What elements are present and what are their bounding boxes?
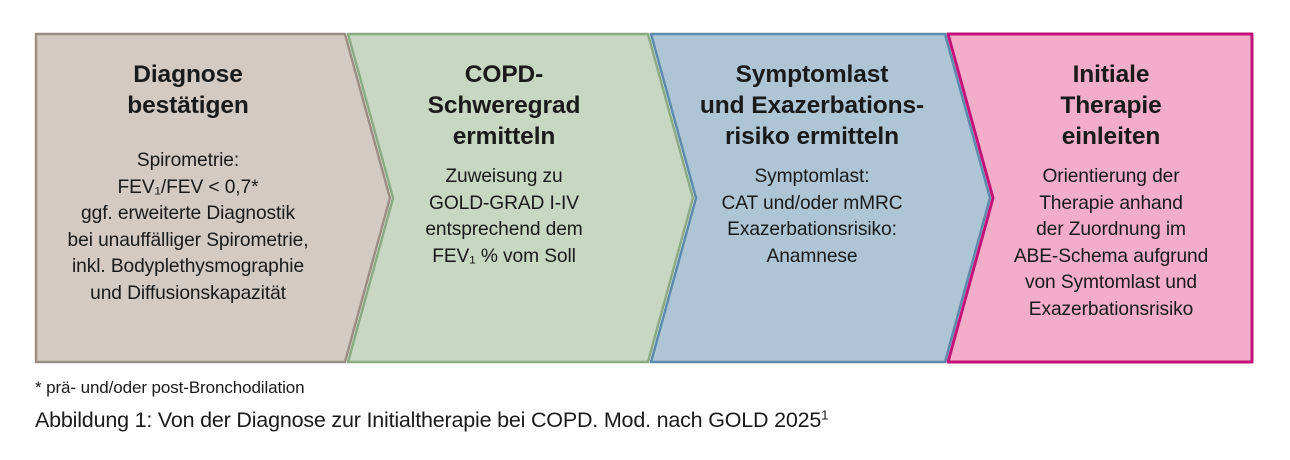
step-2-title: COPD- Schweregrad ermitteln — [428, 59, 581, 152]
step-4-title: Initiale Therapie einleiten — [1060, 59, 1161, 152]
chevron-step-3: Symptomlast und Exazerbations- risiko er… — [672, 33, 952, 270]
step-3-title: Symptomlast und Exazerbations- risiko er… — [700, 59, 924, 152]
figure-caption-reference: 1 — [821, 408, 828, 423]
step-3-body: Symptomlast: CAT und/oder mMRC Exazerbat… — [722, 164, 903, 270]
chevron-step-1: Diagnose bestätigen Spirometrie: FEV₁/FE… — [38, 33, 338, 307]
figure-caption: Abbildung 1: Von der Diagnose zur Initia… — [35, 405, 828, 435]
chevron-flow-diagram: Diagnose bestätigen Spirometrie: FEV₁/FE… — [0, 0, 1290, 380]
figure-caption-text: Abbildung 1: Von der Diagnose zur Initia… — [35, 408, 821, 432]
step-2-body: Zuweisung zu GOLD-GRAD I-IV entsprechend… — [425, 164, 582, 270]
figure-footnote: * prä- und/oder post-Bronchodilation — [35, 377, 305, 399]
figure-root: Diagnose bestätigen Spirometrie: FEV₁/FE… — [0, 0, 1290, 460]
step-1-body: Spirometrie: FEV₁/FEV < 0,7* ggf. erweit… — [68, 148, 309, 307]
chevron-step-4: Initiale Therapie einleiten Orientierung… — [970, 33, 1252, 323]
step-4-body: Orientierung der Therapie anhand der Zuo… — [1014, 164, 1208, 323]
chevron-step-2: COPD- Schweregrad ermitteln Zuweisung zu… — [368, 33, 640, 270]
step-1-title: Diagnose bestätigen — [127, 59, 249, 121]
